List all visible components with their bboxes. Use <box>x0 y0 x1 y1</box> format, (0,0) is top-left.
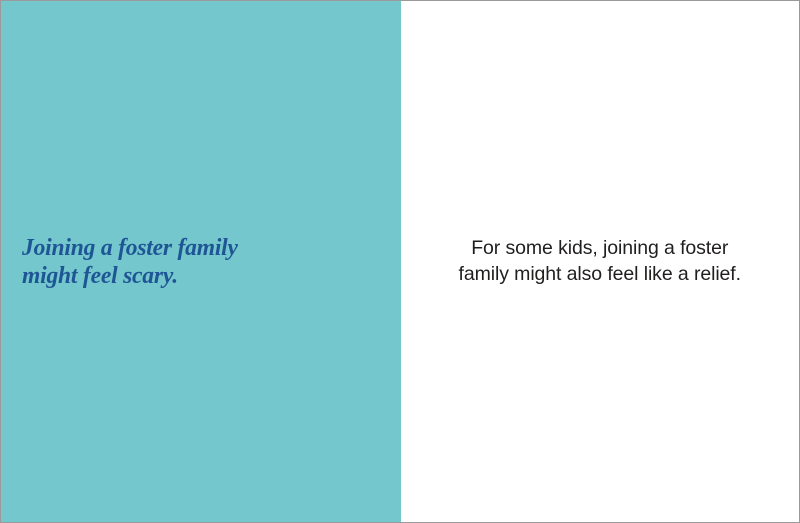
right-page-body-text: For some kids, joining a foster family m… <box>459 236 741 287</box>
right-page-white: For some kids, joining a foster family m… <box>401 1 800 522</box>
left-page-headline: Joining a foster family might feel scary… <box>22 234 238 289</box>
left-page-teal: Joining a foster family might feel scary… <box>1 1 401 522</box>
book-spread: Joining a foster family might feel scary… <box>0 0 800 523</box>
